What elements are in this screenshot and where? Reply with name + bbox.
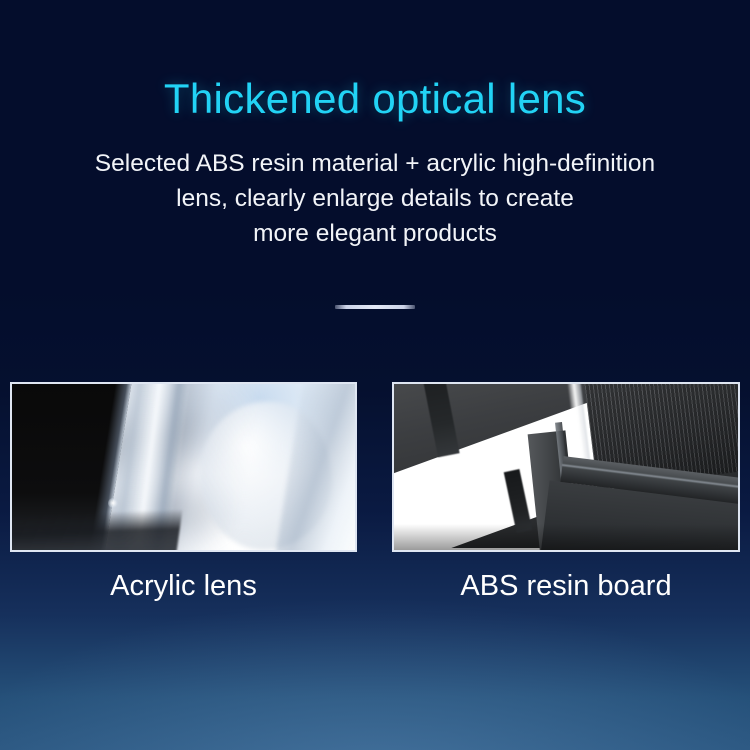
- lens-specular-dot: [108, 498, 118, 508]
- subtitle-line-1: Selected ABS resin material + acrylic hi…: [0, 147, 750, 182]
- caption-acrylic-lens: Acrylic lens: [10, 563, 357, 609]
- photo-panel-acrylic-lens: [10, 382, 357, 552]
- product-feature-poster: Thickened optical lens Selected ABS resi…: [0, 0, 750, 750]
- subtitle-line-2: lens, clearly enlarge details to create: [0, 182, 750, 217]
- divider-container: [0, 305, 750, 309]
- caption-abs-resin-board: ABS resin board: [392, 563, 740, 609]
- lens-bottom-shadow: [12, 509, 183, 550]
- photo-panel-abs-board: [392, 382, 740, 552]
- page-title: Thickened optical lens: [0, 0, 750, 121]
- caption-row: Acrylic lens ABS resin board: [0, 563, 750, 609]
- header-block: Thickened optical lens Selected ABS resi…: [0, 0, 750, 252]
- photo-panel-row: [0, 382, 750, 552]
- section-divider: [335, 305, 415, 309]
- abs-resin-board-photo: [394, 384, 738, 550]
- subtitle-line-3: more elegant products: [0, 217, 750, 252]
- subtitle-paragraph: Selected ABS resin material + acrylic hi…: [0, 121, 750, 251]
- abs-bottom-shadow: [394, 524, 738, 550]
- acrylic-lens-photo: [12, 384, 355, 550]
